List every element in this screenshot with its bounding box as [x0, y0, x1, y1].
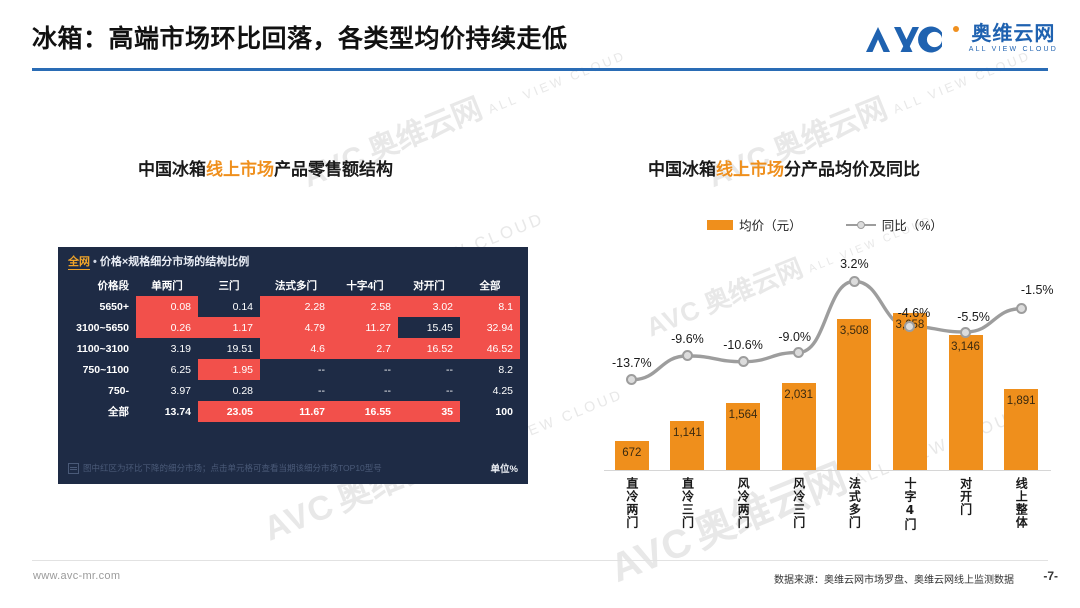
table-col-header: 对开门: [398, 274, 460, 296]
table-row-label: 1100~3100: [66, 338, 136, 359]
footnote-text: 图中红区为环比下降的细分市场；点击单元格可查看当期该细分市场TOP10型号: [83, 462, 382, 474]
table-cell[interactable]: 3.02: [398, 296, 460, 317]
chart-legend: 均价（元） 同比（%）: [590, 215, 1060, 234]
chart-category-label: 法式多门: [848, 477, 860, 529]
logo-wordmark: 奥维云网 ALL VIEW CLOUD: [969, 24, 1058, 55]
table-cell[interactable]: 0.14: [198, 296, 260, 317]
table-cell[interactable]: 0.26: [136, 317, 198, 338]
chart-line-value: 3.2%: [824, 257, 884, 271]
table-row-label: 750-: [66, 380, 136, 401]
slide-header: 冰箱：高端市场环比回落，各类型均价持续走低 奥维云网 ALL VIEW CLOU…: [0, 0, 1080, 80]
table-cell[interactable]: 23.05: [198, 401, 260, 422]
table-cell[interactable]: 1.95: [198, 359, 260, 380]
left-title-highlight: 线上市场: [206, 160, 274, 180]
legend-line-swatch: [846, 220, 876, 230]
table-col-header: 价格段: [66, 274, 136, 296]
slide-footer: www.avc-mr.com 数据来源：奥维云网市场罗盘、奥维云网线上监测数据 …: [0, 560, 1080, 608]
table-row-label: 全部: [66, 401, 136, 422]
chart-bar-value: 3,146: [940, 341, 992, 353]
table-cell[interactable]: --: [332, 380, 398, 401]
table-cell[interactable]: --: [260, 359, 332, 380]
table-cell[interactable]: 2.58: [332, 296, 398, 317]
slide: AVC奥维云网 ALL VIEW CLOUDAVC奥维云网 ALL VIEW C…: [0, 0, 1080, 608]
table-cell[interactable]: 2.7: [332, 338, 398, 359]
table-row[interactable]: 750-3.970.28------4.25: [66, 380, 520, 401]
avc-logo: 奥维云网 ALL VIEW CLOUD: [864, 18, 1058, 60]
footer-url[interactable]: www.avc-mr.com: [33, 570, 120, 582]
card-footer: 图中红区为环比下降的细分市场；点击单元格可查看当期该细分市场TOP10型号 单位…: [68, 461, 518, 475]
left-title-pre: 中国冰箱: [138, 160, 206, 180]
table-cell[interactable]: 32.94: [460, 317, 520, 338]
table-col-header: 单两门: [136, 274, 198, 296]
table-row-label: 5650+: [66, 296, 136, 317]
right-title-pre: 中国冰箱: [648, 160, 716, 180]
chart-category-label: 线上整体: [1015, 477, 1027, 529]
chart-category-label: 风冷三门: [793, 477, 805, 529]
right-title-post: 分产品均价及同比: [784, 160, 920, 180]
chart-category-label: 对开门: [960, 477, 972, 516]
table-row[interactable]: 750~11006.251.95------8.2: [66, 359, 520, 380]
table-row[interactable]: 1100~31003.1919.514.62.716.5246.52: [66, 338, 520, 359]
footer-source: 数据来源：奥维云网市场罗盘、奥维云网线上监测数据: [774, 571, 1014, 586]
legend-bar-label: 均价（元）: [739, 215, 802, 234]
table-cell[interactable]: 0.28: [198, 380, 260, 401]
table-cell[interactable]: 3.19: [136, 338, 198, 359]
table-cell[interactable]: 8.2: [460, 359, 520, 380]
chart-bar[interactable]: [949, 335, 983, 470]
logo-dot-icon: [953, 26, 959, 32]
chart-line-value: -1.5%: [1007, 283, 1067, 297]
chart-line-point[interactable]: [1016, 303, 1027, 314]
table-col-header: 全部: [460, 274, 520, 296]
chart-bar-value: 1,564: [717, 409, 769, 421]
chart-plot-area: 6721,1411,5642,0313,5083,6583,1461,891-1…: [604, 249, 1049, 470]
chart-line-point[interactable]: [738, 356, 749, 367]
note-icon: [68, 463, 79, 474]
table-cell[interactable]: 4.6: [260, 338, 332, 359]
chart-bar[interactable]: [893, 313, 927, 470]
table-cell[interactable]: 100: [460, 401, 520, 422]
header-divider: [32, 68, 1048, 71]
table-cell[interactable]: --: [260, 380, 332, 401]
table-cell[interactable]: 16.52: [398, 338, 460, 359]
chart-bar-value: 1,891: [995, 395, 1047, 407]
chart-category-label: 直冷两门: [626, 477, 638, 529]
table-cell[interactable]: --: [398, 380, 460, 401]
chart-category-label: 风冷两门: [737, 477, 749, 529]
chart-line-value: -13.7%: [602, 356, 662, 370]
structure-table[interactable]: 价格段单两门三门法式多门十字4门对开门全部 5650+0.080.142.282…: [66, 274, 520, 422]
legend-line-label: 同比（%）: [882, 215, 943, 234]
chart-category-label: 直冷三门: [681, 477, 693, 529]
table-cell[interactable]: 11.27: [332, 317, 398, 338]
chart-bar-value: 672: [606, 447, 658, 459]
table-cell[interactable]: 2.28: [260, 296, 332, 317]
card-header-text: 价格×规格细分市场的结构比例: [100, 256, 249, 268]
left-section-title: 中国冰箱线上市场产品零售额结构: [138, 155, 393, 180]
table-cell[interactable]: 3.97: [136, 380, 198, 401]
chart-line-point[interactable]: [626, 374, 637, 385]
chart-bar[interactable]: [837, 319, 871, 470]
legend-item-line[interactable]: 同比（%）: [846, 215, 943, 234]
chart-line-point[interactable]: [682, 350, 693, 361]
table-cell[interactable]: 4.79: [260, 317, 332, 338]
table-cell[interactable]: --: [332, 359, 398, 380]
footer-divider: [32, 560, 1048, 561]
logo-sub-text: ALL VIEW CLOUD: [969, 45, 1058, 55]
page-title: 冰箱：高端市场环比回落，各类型均价持续走低: [32, 19, 568, 55]
table-cell[interactable]: 11.67: [260, 401, 332, 422]
card-sep: •: [93, 256, 97, 268]
table-cell[interactable]: 0.08: [136, 296, 198, 317]
card-header: 全网•价格×规格细分市场的结构比例: [68, 253, 249, 269]
table-row-label: 750~1100: [66, 359, 136, 380]
table-cell[interactable]: 4.25: [460, 380, 520, 401]
chart-line-value: -4.6%: [884, 306, 944, 320]
table-cell[interactable]: 6.25: [136, 359, 198, 380]
right-section-title: 中国冰箱线上市场分产品均价及同比: [648, 155, 920, 180]
table-row[interactable]: 3100~56500.261.174.7911.2715.4532.94: [66, 317, 520, 338]
table-body[interactable]: 5650+0.080.142.282.583.028.13100~56500.2…: [66, 296, 520, 422]
page-number: -7-: [1043, 569, 1058, 583]
logo-avc-mark: [864, 24, 950, 54]
table-cell[interactable]: 13.74: [136, 401, 198, 422]
table-row[interactable]: 全部13.7423.0511.6716.5535100: [66, 401, 520, 422]
table-cell[interactable]: 16.55: [332, 401, 398, 422]
table-cell[interactable]: 1.17: [198, 317, 260, 338]
table-col-header: 法式多门: [260, 274, 332, 296]
chart-line-value: -9.0%: [765, 330, 825, 344]
structure-table-card: 全网•价格×规格细分市场的结构比例 价格段单两门三门法式多门十字4门对开门全部 …: [58, 247, 528, 484]
legend-item-bar[interactable]: 均价（元）: [707, 215, 802, 234]
legend-bar-swatch: [707, 220, 733, 230]
left-title-post: 产品零售额结构: [274, 160, 393, 180]
chart-bar-value: 1,141: [661, 427, 713, 439]
chart-bar-value: 3,508: [828, 325, 880, 337]
chart-line-point[interactable]: [793, 347, 804, 358]
card-scope-tag[interactable]: 全网: [68, 256, 90, 270]
table-cell[interactable]: 19.51: [198, 338, 260, 359]
logo-avc-icon: [864, 24, 950, 54]
chart-line-value: -5.5%: [944, 310, 1004, 324]
table-cell[interactable]: 46.52: [460, 338, 520, 359]
chart-line-point[interactable]: [849, 276, 860, 287]
chart-line-point[interactable]: [960, 327, 971, 338]
chart-category-labels: 直冷两门直冷三门风冷两门风冷三门法式多门十字4门对开门线上整体: [604, 477, 1051, 547]
table-cell[interactable]: 35: [398, 401, 460, 422]
table-cell[interactable]: 8.1: [460, 296, 520, 317]
logo-cn-text: 奥维云网: [971, 24, 1055, 45]
table-cell[interactable]: 15.45: [398, 317, 460, 338]
avg-price-chart: 均价（元） 同比（%） 6721,1411,5642,0313,5083,658…: [590, 215, 1060, 535]
chart-line-value: -9.6%: [657, 332, 717, 346]
table-col-header: 三门: [198, 274, 260, 296]
table-header-row: 价格段单两门三门法式多门十字4门对开门全部: [66, 274, 520, 296]
unit-label: 单位%: [491, 461, 518, 475]
table-col-header: 十字4门: [332, 274, 398, 296]
table-footnote: 图中红区为环比下降的细分市场；点击单元格可查看当期该细分市场TOP10型号: [68, 462, 382, 474]
table-cell[interactable]: --: [398, 359, 460, 380]
chart-category-label: 十字4门: [904, 477, 916, 531]
right-title-highlight: 线上市场: [716, 160, 784, 180]
table-row[interactable]: 5650+0.080.142.282.583.028.1: [66, 296, 520, 317]
chart-x-axis: [604, 470, 1051, 471]
chart-bar-value: 2,031: [773, 389, 825, 401]
table-row-label: 3100~5650: [66, 317, 136, 338]
